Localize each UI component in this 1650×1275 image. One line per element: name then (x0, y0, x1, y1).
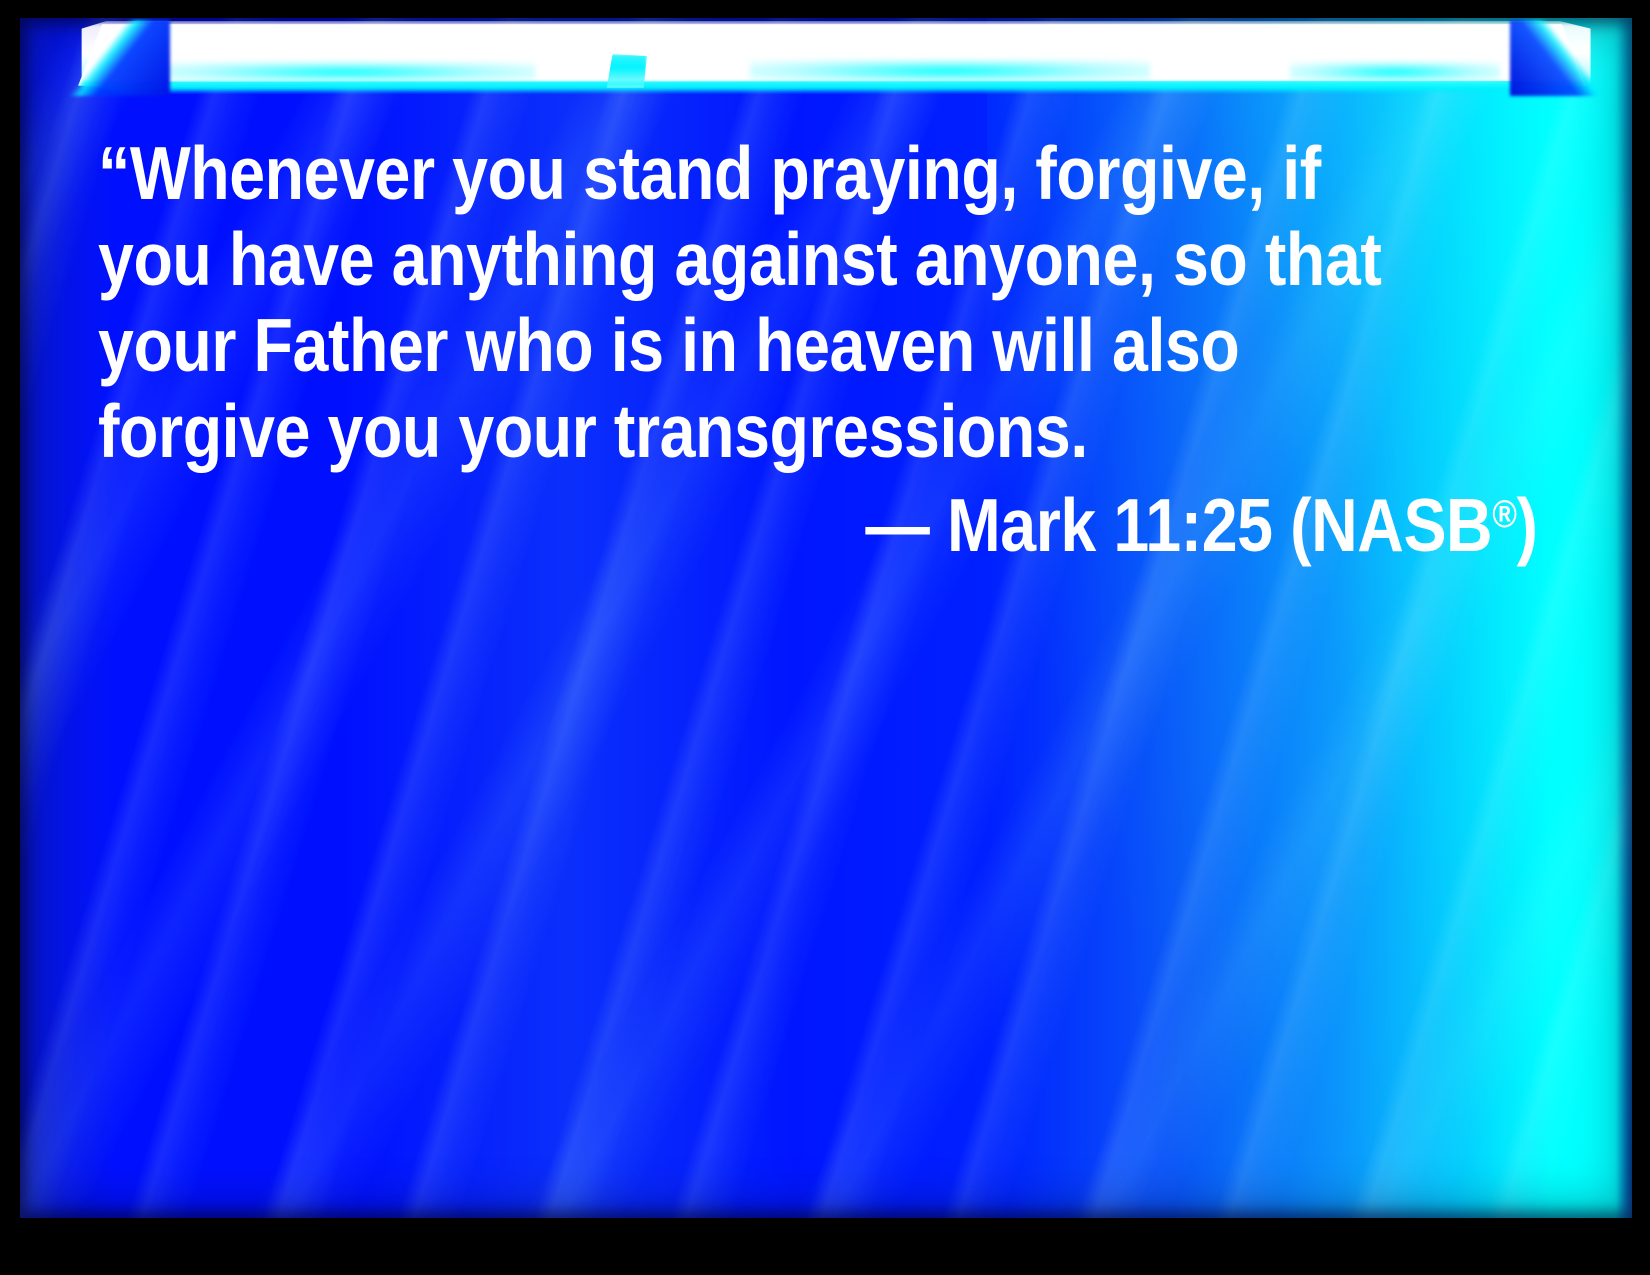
verse-attribution: — Mark 11:25 (NASB®) (98, 472, 1538, 568)
attribution-book: Mark (947, 483, 1096, 567)
band-cyan-streak-left (155, 62, 535, 82)
band-cyan-streak-right (1290, 62, 1500, 82)
verse-line-1: “Whenever you stand praying, forgive, if (98, 130, 1336, 216)
attribution-translation-open: (NASB (1291, 483, 1493, 567)
verse-slide: “Whenever you stand praying, forgive, if… (0, 0, 1650, 1275)
attribution-dash: — (866, 483, 930, 567)
verse-line-2: you have anything against anyone, so tha… (98, 216, 1336, 302)
header-glow-band (60, 18, 1606, 96)
band-cyan-streak-center (750, 60, 1150, 82)
verse-text-block: “Whenever you stand praying, forgive, if… (98, 130, 1538, 474)
band-underline-glow (82, 82, 1584, 90)
attribution-text: — Mark 11:25 (NASB®) (866, 472, 1538, 568)
band-left-bevel (60, 20, 170, 96)
artwork-panel: “Whenever you stand praying, forgive, if… (20, 18, 1632, 1218)
verse-line-4: forgive you your transgressions. (98, 388, 1336, 474)
attribution-translation-close: ) (1517, 483, 1538, 567)
verse-line-3: your Father who is in heaven will also (98, 302, 1336, 388)
registered-trademark-icon: ® (1493, 493, 1517, 536)
attribution-reference: 11:25 (1114, 483, 1273, 567)
band-right-bevel (1510, 20, 1606, 96)
